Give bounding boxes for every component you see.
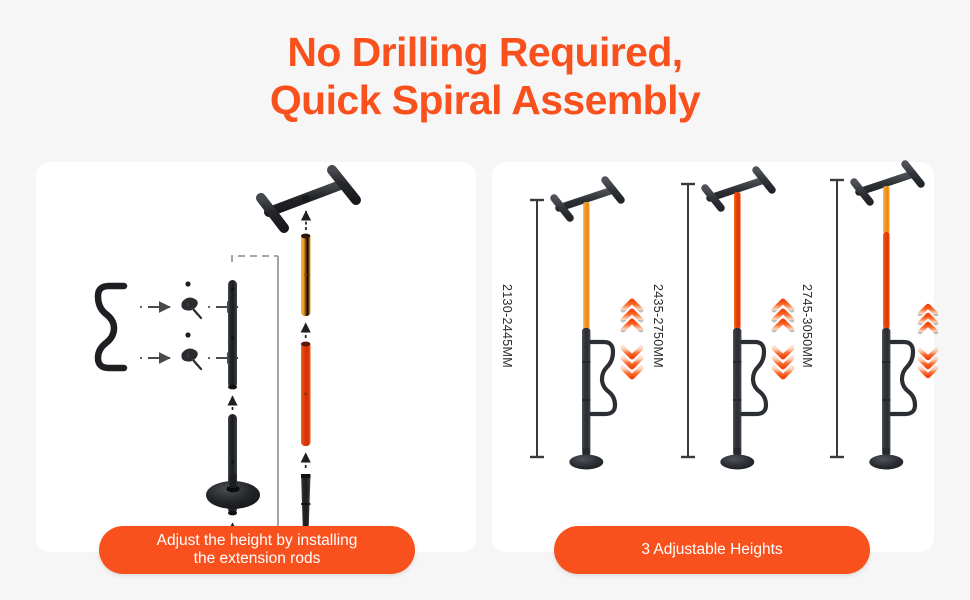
heights-diagram: 2130-2445MM 2435-2750MM 2745-3050MM: [492, 162, 934, 552]
chevrons-down-2: [774, 348, 792, 377]
handle-1: [591, 342, 615, 414]
dimension-line-1: [530, 200, 544, 457]
base-1: [569, 448, 603, 470]
pole-group-2: [681, 170, 772, 470]
height-label-1: 2130-2445MM: [500, 284, 514, 368]
dimension-line-2: [681, 184, 695, 457]
pole-group-1: [530, 180, 621, 470]
base-2: [720, 448, 754, 470]
pole-black-2: [733, 328, 741, 456]
pole-group-3: [830, 164, 921, 470]
assembly-panel: Adjust the height by installing the exte…: [36, 162, 476, 552]
chevrons-up-3: [920, 306, 936, 332]
pole-orange-3-lower: [883, 232, 890, 329]
left-caption-text: Adjust the height by installing the exte…: [157, 532, 358, 569]
pole-orange-2: [734, 192, 741, 329]
left-caption-line-2: the extension rods: [194, 550, 321, 567]
handle-3: [891, 342, 915, 414]
chevrons-down-1: [623, 348, 641, 377]
pole-black-3: [882, 328, 890, 456]
pole-orange-1: [583, 202, 590, 329]
base-3: [869, 448, 903, 470]
dimension-line-3: [830, 180, 844, 457]
chevrons-up-1: [623, 301, 641, 330]
chevrons-down-3: [920, 350, 936, 376]
headline-line-2: Quick Spiral Assembly: [0, 76, 970, 124]
right-caption-text: 3 Adjustable Heights: [641, 541, 782, 559]
height-label-3: 2745-3050MM: [800, 284, 814, 368]
left-caption-line-1: Adjust the height by installing: [157, 532, 358, 549]
pole-black-1: [582, 328, 590, 456]
right-panel-caption: 3 Adjustable Heights: [554, 526, 870, 574]
page-title: No Drilling Required, Quick Spiral Assem…: [0, 28, 970, 125]
pole-orange-3-upper: [883, 186, 890, 233]
assembly-diagram: [36, 162, 476, 552]
promo-page: No Drilling Required, Quick Spiral Assem…: [0, 0, 970, 600]
handle-2: [742, 342, 766, 414]
heights-panel: 2130-2445MM 2435-2750MM 2745-3050MM 3 Ad…: [492, 162, 934, 552]
left-panel-caption: Adjust the height by installing the exte…: [99, 526, 415, 574]
height-label-2: 2435-2750MM: [651, 284, 665, 368]
chevrons-up-2: [774, 301, 792, 330]
headline-line-1: No Drilling Required,: [0, 28, 970, 76]
base-plate-icon: [206, 474, 260, 509]
